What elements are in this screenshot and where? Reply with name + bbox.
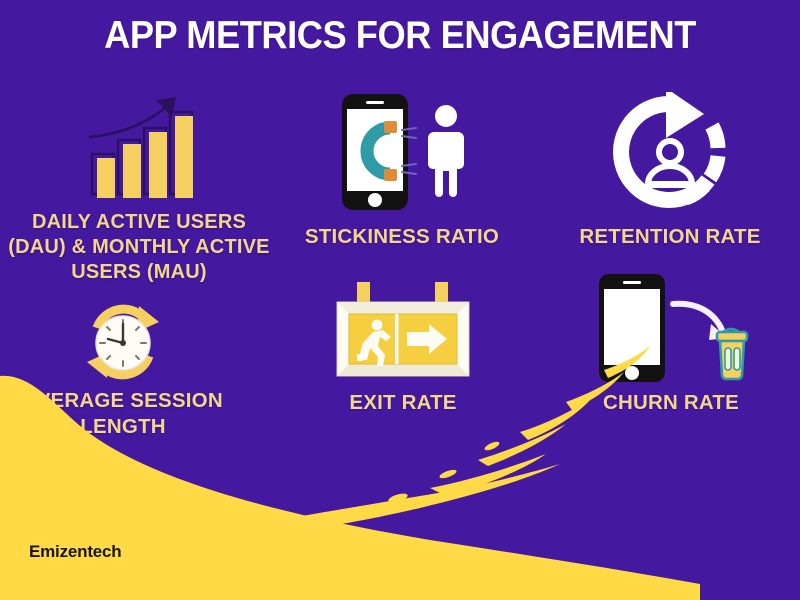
circular-arrow-user-icon (608, 92, 732, 219)
metric-label-exit-rate: EXIT RATE (290, 390, 516, 416)
metric-label-churn-rate: CHURN RATE (548, 390, 794, 416)
clock-refresh-icon (75, 298, 171, 393)
metric-label-stickiness-ratio: STICKINESS RATIO (286, 224, 518, 250)
phone-to-trash-icon (581, 272, 761, 389)
bar-chart-growth-icon (80, 92, 198, 205)
exit-sign-icon (329, 282, 477, 391)
metric-label-average-session-length: AVERAGE SESSION LENGTH (0, 388, 246, 440)
metric-label-retention-rate: RETENTION RATE (548, 224, 792, 250)
phone-magnet-user-icon (326, 92, 478, 219)
infographic-poster: APP METRICS FOR ENGAGEMENT DAILY ACTIVE … (0, 0, 800, 600)
brand-logo-text: Emizentech (29, 542, 121, 562)
page-title: APP METRICS FOR ENGAGEMENT (28, 14, 772, 58)
metric-label-daily-active-users: DAILY ACTIVE USERS (DAU) & MONTHLY ACTIV… (1, 210, 277, 286)
